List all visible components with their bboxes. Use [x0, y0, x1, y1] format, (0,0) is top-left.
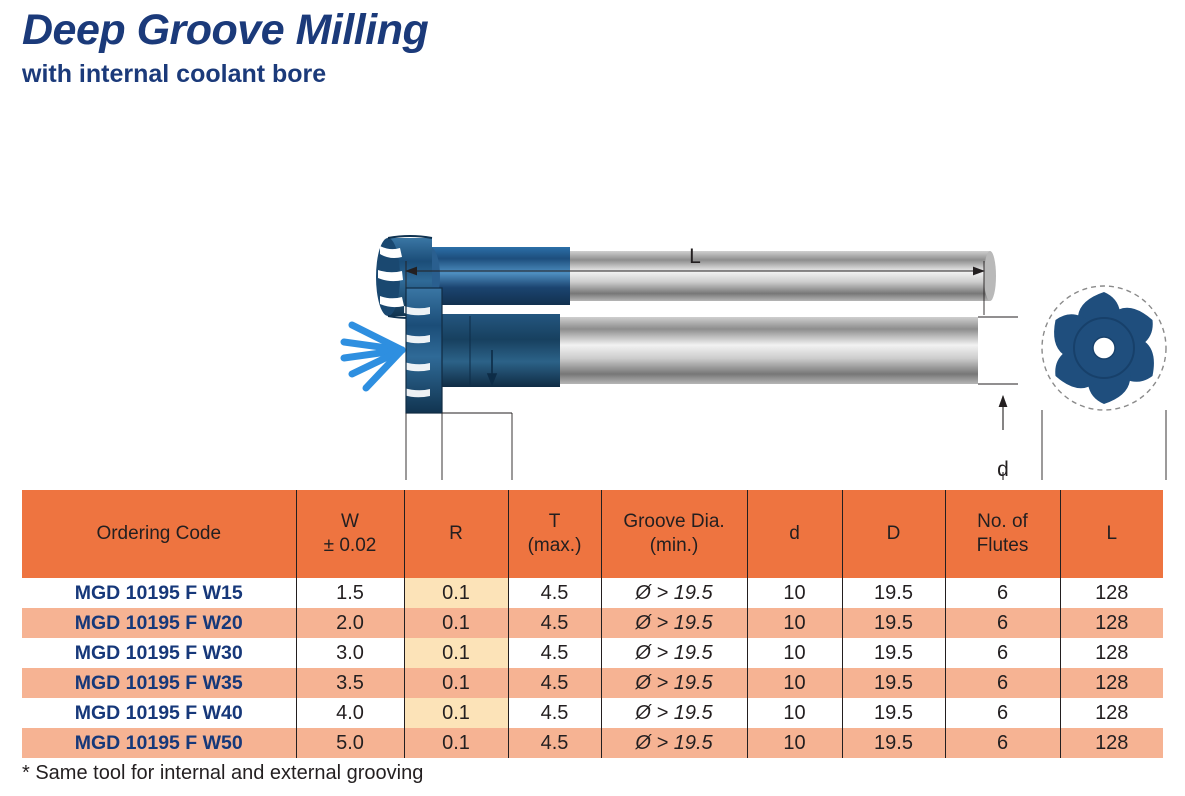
cell-D: 19.5: [842, 638, 945, 668]
cell-l: 128: [1060, 728, 1163, 758]
cell-code: MGD 10195 F W50: [22, 728, 296, 758]
tool-diagram-svg: L: [0, 110, 1185, 480]
cell-flutes: 6: [945, 608, 1060, 638]
spec-table-container: Ordering Code W ± 0.02 R T (max.) Groove…: [22, 490, 1163, 758]
cell-t: 4.5: [508, 608, 601, 638]
cell-t: 4.5: [508, 698, 601, 728]
cell-groove: Ø > 19.5: [601, 698, 747, 728]
header-line: R: [405, 522, 508, 546]
groove-dia-value: Ø > 19.5: [635, 672, 712, 694]
cell-flutes: 6: [945, 728, 1060, 758]
dimension-T: T: [442, 413, 536, 480]
table-row: MGD 10195 F W303.00.14.5Ø > 19.51019.561…: [22, 638, 1163, 668]
cell-D: 19.5: [842, 698, 945, 728]
table-row: MGD 10195 F W202.00.14.5Ø > 19.51019.561…: [22, 608, 1163, 638]
cell-l: 128: [1060, 698, 1163, 728]
cell-w: 3.5: [296, 668, 404, 698]
cell-t: 4.5: [508, 668, 601, 698]
cell-d: 10: [747, 608, 842, 638]
table-row: MGD 10195 F W505.00.14.5Ø > 19.51019.561…: [22, 728, 1163, 758]
header-t: T (max.): [508, 490, 601, 578]
cell-flutes: 6: [945, 578, 1060, 608]
header-line: No. of: [946, 510, 1060, 534]
cell-r: 0.1: [404, 668, 508, 698]
tool-photo: [376, 236, 996, 318]
header-l: L: [1060, 490, 1163, 578]
cell-w: 4.0: [296, 698, 404, 728]
cell-r: 0.1: [404, 608, 508, 638]
cell-D: 19.5: [842, 578, 945, 608]
cell-code: MGD 10195 F W30: [22, 638, 296, 668]
header-line: W: [297, 510, 404, 534]
cell-groove: Ø > 19.5: [601, 608, 747, 638]
cell-l: 128: [1060, 608, 1163, 638]
cell-w: 1.5: [296, 578, 404, 608]
header-ordering-code: Ordering Code: [22, 490, 296, 578]
page-subtitle: with internal coolant bore: [22, 61, 922, 87]
cell-r: 0.1: [404, 698, 508, 728]
page-title: Deep Groove Milling: [22, 8, 922, 53]
header-line: L: [1061, 522, 1164, 546]
cell-groove: Ø > 19.5: [601, 668, 747, 698]
cell-r: 0.1: [404, 578, 508, 608]
cell-d: 10: [747, 728, 842, 758]
header-line: (max.): [509, 534, 601, 558]
cell-D: 19.5: [842, 668, 945, 698]
cell-l: 128: [1060, 668, 1163, 698]
header-no-of-flutes: No. of Flutes: [945, 490, 1060, 578]
cell-code: MGD 10195 F W35: [22, 668, 296, 698]
cell-flutes: 6: [945, 638, 1060, 668]
cell-D: 19.5: [842, 728, 945, 758]
cell-d: 10: [747, 638, 842, 668]
cell-l: 128: [1060, 638, 1163, 668]
product-figure-area: L: [0, 110, 1185, 480]
cell-code: MGD 10195 F W20: [22, 608, 296, 638]
cell-r: 0.1: [404, 638, 508, 668]
dimension-label-L: L: [689, 245, 701, 268]
cell-w: 3.0: [296, 638, 404, 668]
cell-d: 10: [747, 578, 842, 608]
groove-dia-value: Ø > 19.5: [635, 642, 712, 664]
cell-code: MGD 10195 F W40: [22, 698, 296, 728]
cell-groove: Ø > 19.5: [601, 578, 747, 608]
cell-groove: Ø > 19.5: [601, 638, 747, 668]
header-groove-dia: Groove Dia. (min.): [601, 490, 747, 578]
cell-d: 10: [747, 698, 842, 728]
header-line: Ordering Code: [22, 522, 296, 546]
table-footnote: * Same tool for internal and external gr…: [22, 762, 423, 785]
cell-d: 10: [747, 668, 842, 698]
page-header: Deep Groove Milling with internal coolan…: [22, 8, 922, 87]
cell-t: 4.5: [508, 728, 601, 758]
specification-table: Ordering Code W ± 0.02 R T (max.) Groove…: [22, 490, 1163, 758]
header-line: Groove Dia.: [602, 510, 747, 534]
header-line: ± 0.02: [297, 534, 404, 558]
table-row: MGD 10195 F W151.50.14.5Ø > 19.51019.561…: [22, 578, 1163, 608]
cell-l: 128: [1060, 578, 1163, 608]
header-d: d: [747, 490, 842, 578]
table-row: MGD 10195 F W353.50.14.5Ø > 19.51019.561…: [22, 668, 1163, 698]
dimension-d: d: [978, 317, 1018, 480]
header-line: D: [843, 522, 945, 546]
cell-flutes: 6: [945, 698, 1060, 728]
header-line: T: [509, 510, 601, 534]
cell-r: 0.1: [404, 728, 508, 758]
header-r: R: [404, 490, 508, 578]
cell-t: 4.5: [508, 578, 601, 608]
groove-dia-value: Ø > 19.5: [635, 732, 712, 754]
cell-groove: Ø > 19.5: [601, 728, 747, 758]
dimension-OD: ØD: [1042, 410, 1166, 480]
header-w: W ± 0.02: [296, 490, 404, 578]
header-D: D: [842, 490, 945, 578]
table-row: MGD 10195 F W404.00.14.5Ø > 19.51019.561…: [22, 698, 1163, 728]
header-line: d: [748, 522, 842, 546]
cell-w: 5.0: [296, 728, 404, 758]
groove-dia-value: Ø > 19.5: [635, 612, 712, 634]
cell-w: 2.0: [296, 608, 404, 638]
cell-code: MGD 10195 F W15: [22, 578, 296, 608]
header-line: Flutes: [946, 534, 1060, 558]
groove-dia-value: Ø > 19.5: [635, 582, 712, 604]
groove-dia-value: Ø > 19.5: [635, 702, 712, 724]
cell-flutes: 6: [945, 668, 1060, 698]
dimension-label-d: d: [997, 458, 1009, 480]
cell-t: 4.5: [508, 638, 601, 668]
cell-D: 19.5: [842, 608, 945, 638]
header-line: (min.): [602, 534, 747, 558]
table-header-row: Ordering Code W ± 0.02 R T (max.) Groove…: [22, 490, 1163, 578]
dimension-W: W: [386, 413, 492, 480]
tool-end-view: ØD: [1042, 286, 1166, 480]
coolant-spray-icon: [344, 325, 402, 388]
